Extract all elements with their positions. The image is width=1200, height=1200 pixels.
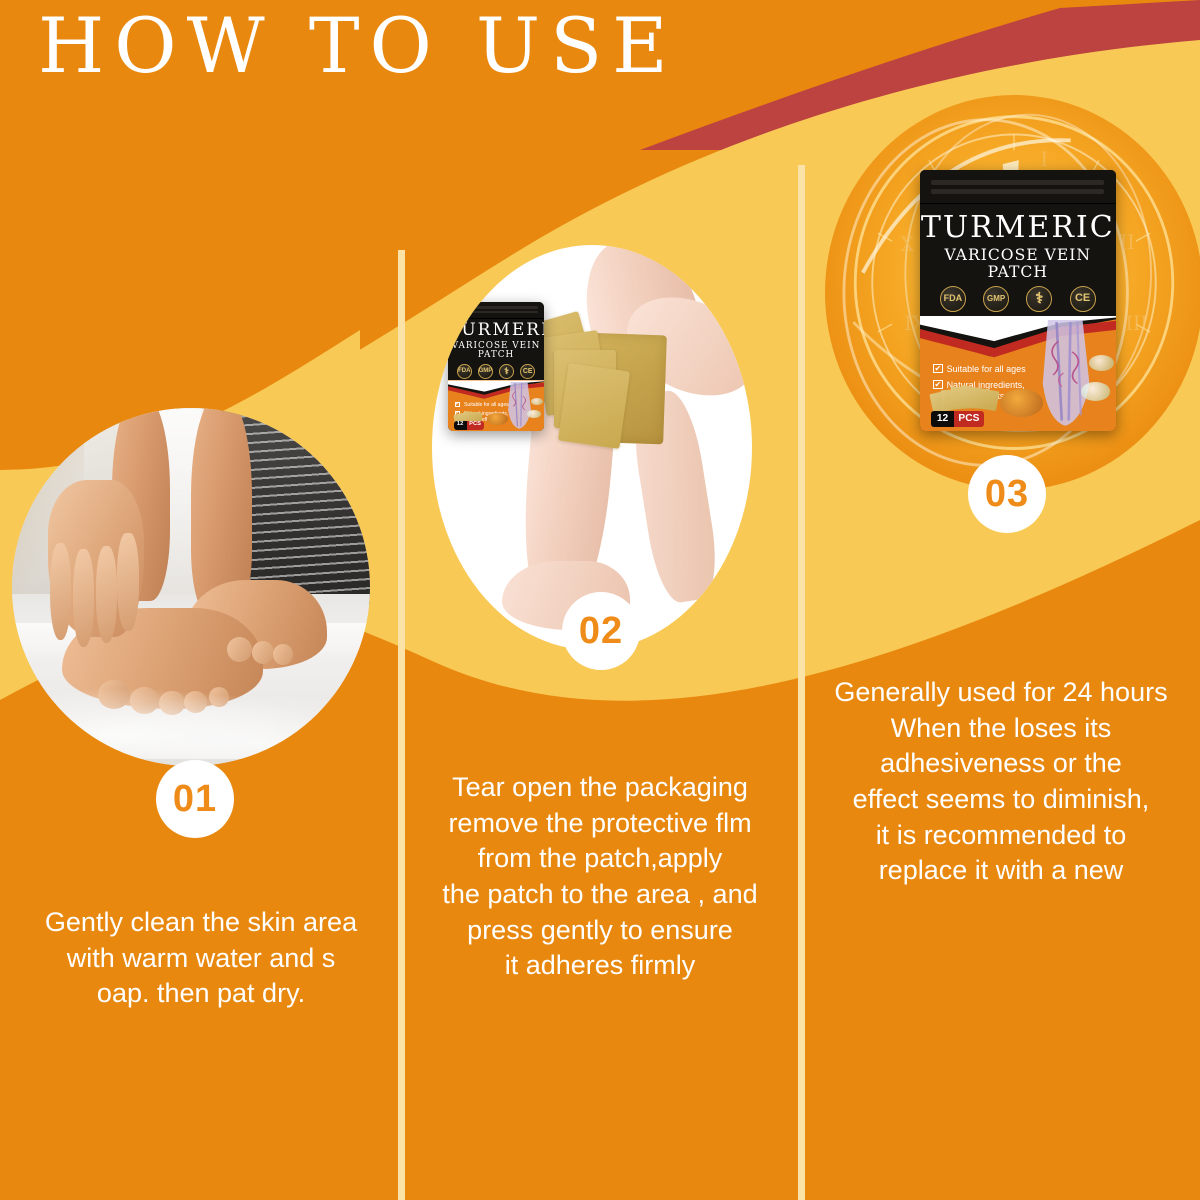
gmp-badge-icon: GMP: [478, 364, 493, 379]
loose-patch: [558, 363, 630, 449]
finger: [50, 543, 71, 641]
toe: [252, 641, 274, 664]
ce-badge-icon: CE: [520, 364, 535, 379]
package-lower-art: ✔ Suitable for all ages ✔ Natural ingred…: [448, 380, 544, 431]
turmeric-root-image: [1000, 389, 1043, 417]
package-brand-name: TURMERIC: [448, 322, 544, 340]
finger: [117, 533, 138, 631]
leaf-icon: [1081, 382, 1110, 400]
certification-badges: FDA GMP ⚕ CE: [920, 280, 1117, 316]
step-3-photo-circle: I II III IV IX X TURMERIC VARICOSE VEIN …: [825, 95, 1200, 490]
package-zip-seal: [448, 302, 544, 319]
legs-scene: TURMERIC VARICOSE VEIN PATCH FDA GMP ⚕ C…: [432, 245, 752, 650]
count-unit: PCS: [954, 411, 984, 427]
step-badge-01: 01: [156, 760, 234, 838]
package-brand-name: TURMERIC: [920, 212, 1117, 244]
leaf-icon: [531, 398, 543, 405]
step-1-caption: Gently clean the skin area with warm wat…: [8, 905, 394, 1012]
count-number: 12: [931, 411, 954, 427]
package-zip-seal: [920, 170, 1117, 204]
package-subtitle: VARICOSE VEIN PATCH: [448, 342, 544, 361]
svg-text:X: X: [901, 233, 915, 257]
ce-badge-icon: CE: [1070, 286, 1096, 312]
count-unit: PCS: [467, 421, 484, 430]
package-count-badge: 12 PCS: [454, 421, 484, 430]
caduceus-badge-icon: ⚕: [499, 364, 514, 379]
step-2-photo-circle: TURMERIC VARICOSE VEIN PATCH FDA GMP ⚕ C…: [432, 245, 752, 650]
feature-row: ✔ Suitable for all ages: [933, 364, 1025, 375]
finger: [96, 546, 117, 644]
leaf-icon: [1089, 355, 1115, 371]
column-divider-1: [398, 250, 405, 1200]
count-number: 12: [454, 421, 467, 430]
page-title: HOW TO USE: [38, 8, 678, 84]
product-package-large: TURMERIC VARICOSE VEIN PATCH FDA GMP ⚕ C…: [920, 170, 1117, 431]
step-3-caption: Generally used for 24 hours When the los…: [806, 675, 1196, 889]
checkbox-icon: ✔: [933, 364, 942, 373]
package-subtitle: VARICOSE VEIN PATCH: [920, 247, 1117, 280]
step-badge-02: 02: [562, 592, 640, 670]
toe: [227, 637, 252, 662]
column-divider-2: [798, 165, 805, 1200]
step-1-photo-circle: [12, 408, 370, 766]
feature-text: Suitable for all ages: [464, 402, 509, 408]
fda-badge-icon: FDA: [940, 286, 966, 312]
feature-text: Suitable for all ages: [947, 364, 1026, 375]
svg-text:II: II: [1120, 231, 1135, 255]
product-package-small: TURMERIC VARICOSE VEIN PATCH FDA GMP ⚕ C…: [448, 302, 544, 432]
fda-badge-icon: FDA: [457, 364, 472, 379]
package-lower-art: ✔ Suitable for all ages ✔ Natural ingred…: [920, 316, 1117, 431]
package-brand-block: TURMERIC VARICOSE VEIN PATCH: [920, 204, 1117, 280]
patch-pile-image: [931, 387, 998, 412]
hand: [48, 480, 145, 638]
svg-text:III: III: [1126, 312, 1148, 336]
checkbox-icon: ✔: [455, 402, 460, 407]
caduceus-badge-icon: ⚕: [1026, 286, 1052, 312]
water-splash: [12, 680, 370, 759]
certification-badges: FDA GMP ⚕ CE: [448, 361, 544, 381]
svg-text:I: I: [1040, 148, 1047, 172]
feature-row: ✔ Suitable for all ages: [455, 402, 509, 408]
shower-scene: [12, 408, 370, 766]
package-count-badge: 12 PCS: [931, 411, 984, 427]
package-brand-block: TURMERIC VARICOSE VEIN PATCH: [448, 319, 544, 361]
step-badge-03: 03: [968, 455, 1046, 533]
step-2-caption: Tear open the packaging remove the prote…: [406, 770, 794, 984]
finger: [73, 549, 94, 647]
gmp-badge-icon: GMP: [983, 286, 1009, 312]
